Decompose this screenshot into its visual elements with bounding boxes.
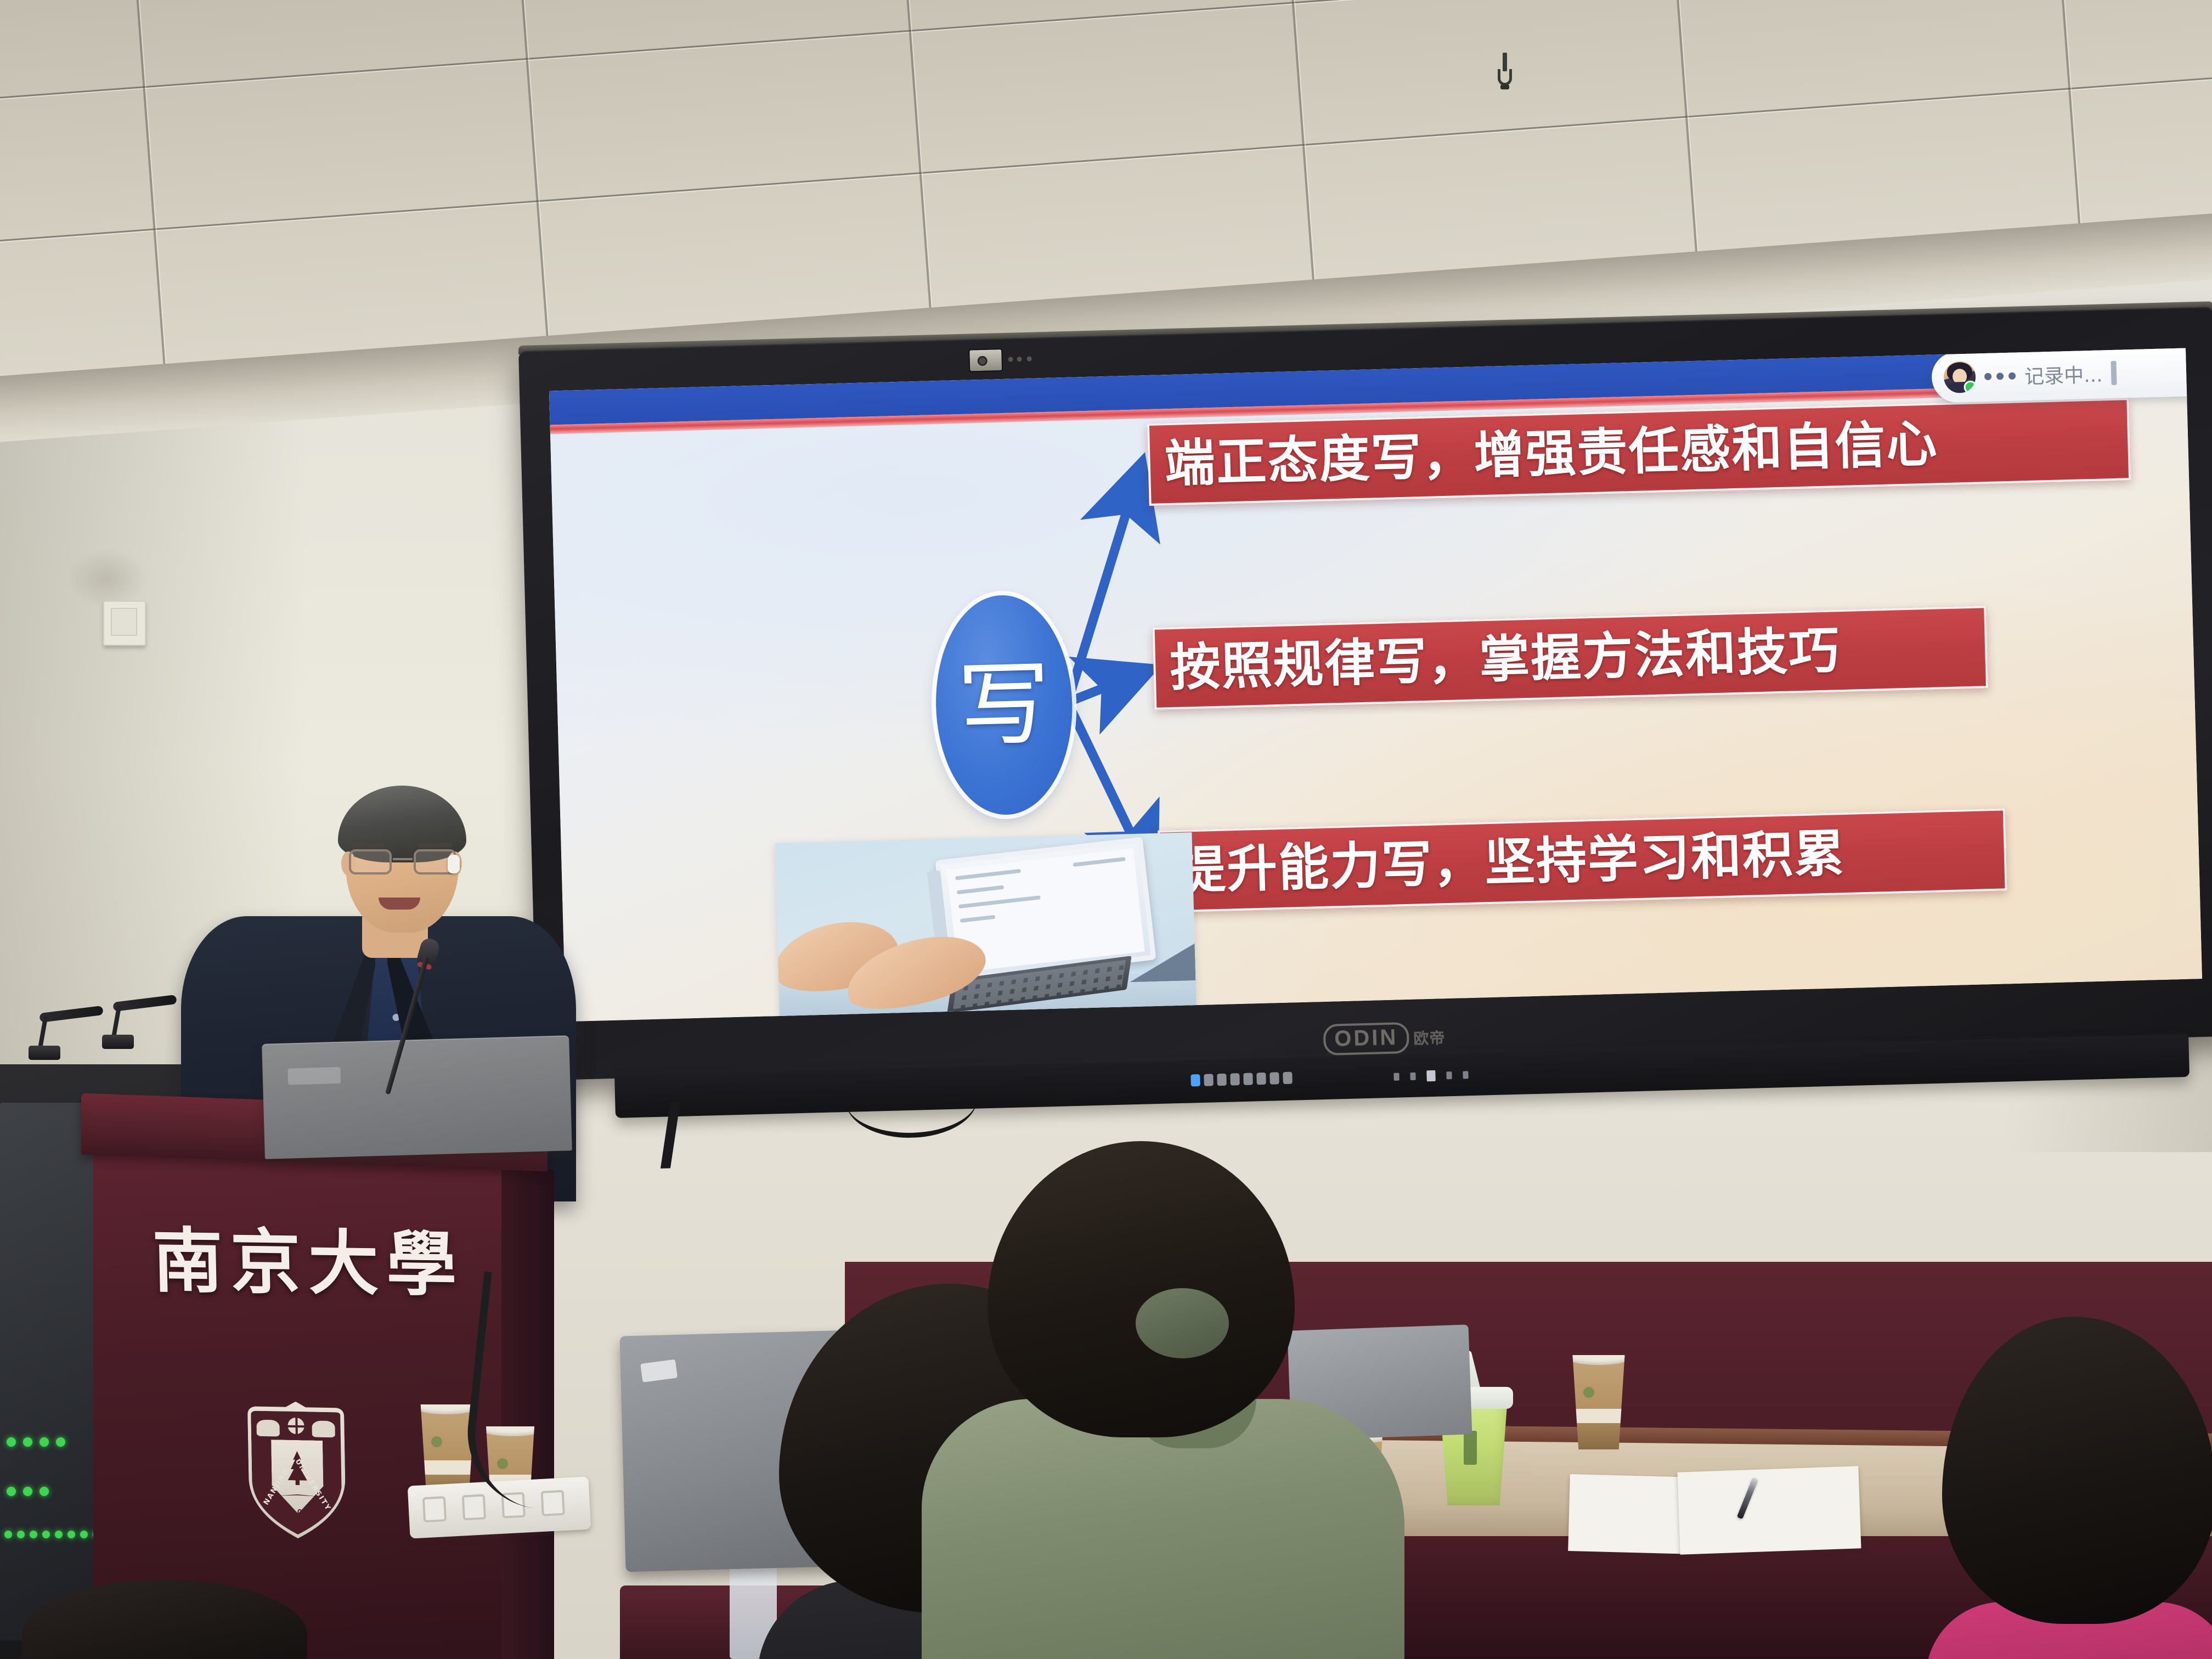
- podium-university-name: 南京大學: [152, 1226, 439, 1300]
- cable: [460, 1272, 626, 1516]
- camera-icon: [968, 348, 1003, 373]
- sensor-dots-icon: [1008, 354, 1040, 366]
- presenter-laptop[interactable]: [262, 1035, 572, 1159]
- online-status-badge: [1963, 380, 1976, 393]
- crest-text-left: NANJING: [262, 1466, 291, 1506]
- brand-mark-text: ODIN: [1323, 1022, 1409, 1056]
- recording-label: 记录中...: [2024, 359, 2103, 390]
- slide-screen[interactable]: 写 端正态度写，增强责任感和自信心 按照规律写，掌握方法和技巧 提升能力写，坚持…: [549, 348, 2202, 1022]
- rack-led-row-1: [7, 1437, 65, 1447]
- display-brand-label: ODIN欧帝: [1323, 1021, 1446, 1056]
- recording-status-widget[interactable]: 记录中...: [1931, 348, 2202, 403]
- ports-icon: [1393, 1069, 1468, 1082]
- wall-switch-plate[interactable]: [103, 601, 146, 646]
- crest-year: 1902: [244, 1507, 351, 1519]
- slide-banner-2[interactable]: 按照规律写，掌握方法和技巧: [1153, 606, 1988, 710]
- status-leds-icon: [1190, 1072, 1293, 1087]
- wall-smudge: [66, 549, 148, 609]
- paper-cup: [1569, 1355, 1628, 1449]
- slide-photo-tablet-typing: [775, 832, 1197, 1016]
- audience-member: [1942, 1317, 2212, 1659]
- earbud-icon: [448, 855, 460, 873]
- banner-3-text: 提升能力写，坚持学习和积累: [1175, 828, 1846, 896]
- banner-2-text: 按照规律写，掌握方法和技巧: [1169, 625, 1841, 693]
- rack-led-row-2: [7, 1487, 49, 1496]
- avatar[interactable]: [1943, 360, 1976, 393]
- center-node-label: 写: [957, 658, 1051, 752]
- divider: [2111, 361, 2117, 385]
- interactive-display[interactable]: 写 端正态度写，增强责任感和自信心 按照规律写，掌握方法和技巧 提升能力写，坚持…: [518, 307, 2212, 1080]
- sprinkler-head-icon: [1498, 53, 1512, 95]
- hair-tie-icon: [1136, 1288, 1229, 1358]
- slide-banner-3[interactable]: 提升能力写，坚持学习和积累: [1158, 808, 2007, 912]
- paper-sheet: [1677, 1466, 1861, 1554]
- university-crest: NANJING UNIVERSITY 1902: [242, 1400, 351, 1542]
- brand-cn-text: 欧帝: [1413, 1029, 1446, 1047]
- banner-1-text: 端正态度写，增强责任感和自信心: [1164, 419, 1939, 489]
- paper-sheet: [1568, 1474, 1696, 1554]
- diagram-center-node[interactable]: 写: [933, 594, 1075, 816]
- crest-text-right: UNIVERSITY: [294, 1458, 332, 1513]
- slide-canvas: 写 端正态度写，增强责任感和自信心 按照规律写，掌握方法和技巧 提升能力写，坚持…: [549, 348, 2202, 1022]
- audience-member: [966, 1141, 1361, 1659]
- audience-member: [22, 1580, 307, 1659]
- glasses-icon: [348, 849, 458, 877]
- more-options-icon[interactable]: [1984, 372, 2016, 380]
- lecture-hall-photo: 写 端正态度写，增强责任感和自信心 按照规律写，掌握方法和技巧 提升能力写，坚持…: [0, 0, 2212, 1659]
